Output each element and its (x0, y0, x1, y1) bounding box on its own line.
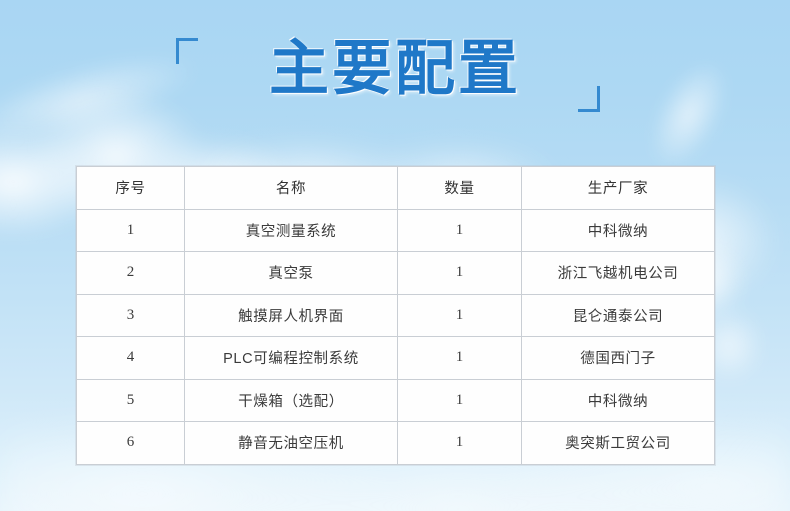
cell-index: 1 (77, 209, 185, 252)
table-row: 4PLC可编程控制系统1德国西门子 (77, 337, 715, 380)
cell-index: 4 (77, 337, 185, 380)
column-header-name: 名称 (185, 167, 398, 210)
table-header: 序号 名称 数量 生产厂家 (77, 167, 715, 210)
cell-manufacturer: 中科微纳 (522, 209, 715, 252)
cell-index: 2 (77, 252, 185, 295)
cell-quantity: 1 (398, 294, 522, 337)
table-header-row: 序号 名称 数量 生产厂家 (77, 167, 715, 210)
table-row: 3触摸屏人机界面1昆仑通泰公司 (77, 294, 715, 337)
cell-name: 真空泵 (185, 252, 398, 295)
cell-manufacturer: 浙江飞越机电公司 (522, 252, 715, 295)
cell-name: 真空测量系统 (185, 209, 398, 252)
cell-quantity: 1 (398, 209, 522, 252)
cell-manufacturer: 德国西门子 (522, 337, 715, 380)
cell-quantity: 1 (398, 379, 522, 422)
table-body: 1真空测量系统1中科微纳2真空泵1浙江飞越机电公司3触摸屏人机界面1昆仑通泰公司… (77, 209, 715, 464)
cell-index: 5 (77, 379, 185, 422)
column-header-quantity: 数量 (398, 167, 522, 210)
table-row: 6静音无油空压机1奥突斯工贸公司 (77, 422, 715, 465)
column-header-manufacturer: 生产厂家 (522, 167, 715, 210)
cell-index: 3 (77, 294, 185, 337)
cell-quantity: 1 (398, 337, 522, 380)
cell-name: 触摸屏人机界面 (185, 294, 398, 337)
table-row: 5干燥箱（选配）1中科微纳 (77, 379, 715, 422)
bracket-close-shape (578, 86, 600, 112)
specification-table-container: 序号 名称 数量 生产厂家 1真空测量系统1中科微纳2真空泵1浙江飞越机电公司3… (76, 166, 714, 465)
column-header-index: 序号 (77, 167, 185, 210)
cell-manufacturer: 中科微纳 (522, 379, 715, 422)
cell-manufacturer: 昆仑通泰公司 (522, 294, 715, 337)
cell-quantity: 1 (398, 422, 522, 465)
specification-table: 序号 名称 数量 生产厂家 1真空测量系统1中科微纳2真空泵1浙江飞越机电公司3… (76, 166, 715, 465)
cell-name: PLC可编程控制系统 (185, 337, 398, 380)
cell-name: 干燥箱（选配） (185, 379, 398, 422)
cell-name: 静音无油空压机 (185, 422, 398, 465)
table-row: 1真空测量系统1中科微纳 (77, 209, 715, 252)
page-title: 主要配置 (0, 33, 790, 105)
table-row: 2真空泵1浙江飞越机电公司 (77, 252, 715, 295)
cell-index: 6 (77, 422, 185, 465)
cell-manufacturer: 奥突斯工贸公司 (522, 422, 715, 465)
cell-quantity: 1 (398, 252, 522, 295)
title-section: 主要配置 (0, 0, 790, 150)
